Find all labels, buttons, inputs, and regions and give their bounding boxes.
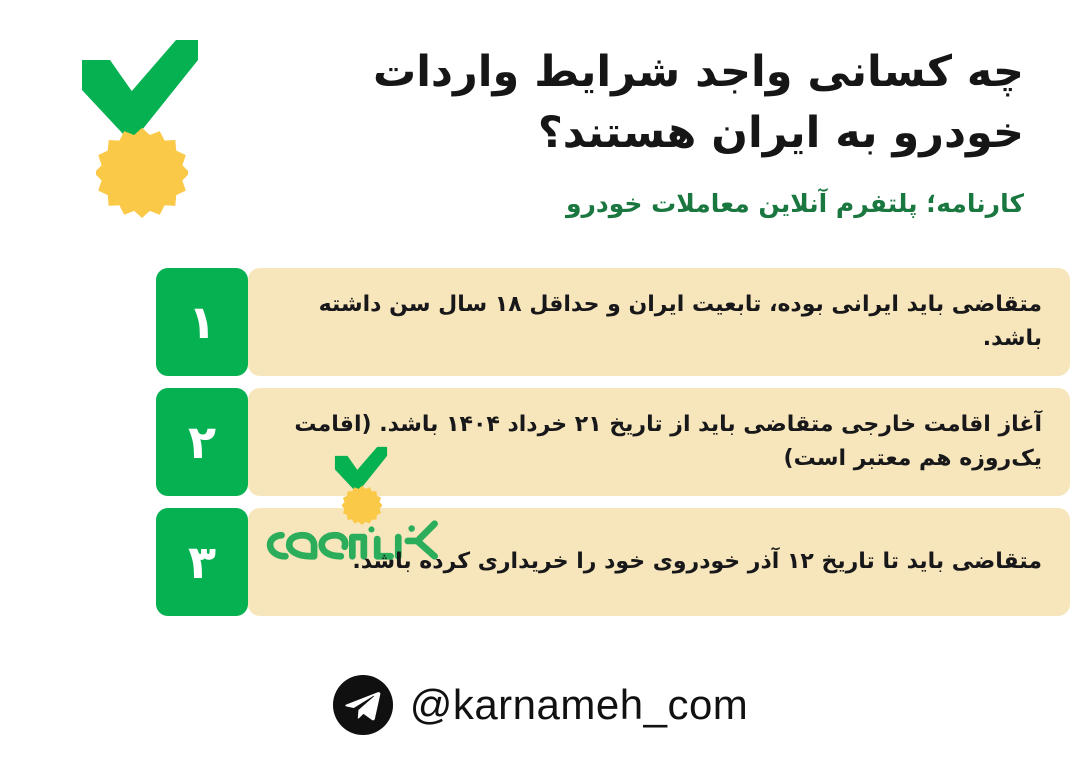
yellow-seal-icon <box>96 126 188 218</box>
list-item: ۲ آغاز اقامت خارجی متقاضی باید از تاریخ … <box>156 388 1080 496</box>
item-number-badge: ۲ <box>156 388 248 496</box>
item-panel: آغاز اقامت خارجی متقاضی باید از تاریخ ۲۱… <box>248 388 1070 496</box>
footer: @karnameh_com <box>0 655 1080 755</box>
green-check-icon <box>80 38 200 138</box>
conditions-list: ۱ متقاضی باید ایرانی بوده، تابعیت ایران … <box>0 268 1080 628</box>
item-number-badge: ۱ <box>156 268 248 376</box>
page-title-line-2: خودرو به ایران هستند؟ <box>538 108 1024 158</box>
item-text: متقاضی باید تا تاریخ ۱۲ آذر خودروی خود ر… <box>272 545 1042 579</box>
telegram-handle[interactable]: @karnameh_com <box>410 684 749 726</box>
item-text: متقاضی باید ایرانی بوده، تابعیت ایران و … <box>272 288 1042 356</box>
telegram-icon[interactable] <box>332 674 394 736</box>
header: چه کسانی واجد شرایط واردات خودرو به ایرا… <box>0 0 1080 262</box>
list-item: ۳ متقاضی باید تا تاریخ ۱۲ آذر خودروی خود… <box>156 508 1080 616</box>
page-title: چه کسانی واجد شرایط واردات خودرو به ایرا… <box>234 42 1024 164</box>
brand-check-seal-icon <box>72 38 208 204</box>
item-number-badge: ۳ <box>156 508 248 616</box>
item-text: آغاز اقامت خارجی متقاضی باید از تاریخ ۲۱… <box>272 408 1042 476</box>
item-panel: متقاضی باید تا تاریخ ۱۲ آذر خودروی خود ر… <box>248 508 1070 616</box>
headline-block: چه کسانی واجد شرایط واردات خودرو به ایرا… <box>234 42 1024 221</box>
infographic-poster: چه کسانی واجد شرایط واردات خودرو به ایرا… <box>0 0 1080 772</box>
page-subtitle: کارنامه؛ پلتفرم آنلاین معاملات خودرو <box>234 186 1024 221</box>
list-item: ۱ متقاضی باید ایرانی بوده، تابعیت ایران … <box>156 268 1080 376</box>
page-title-line-1: چه کسانی واجد شرایط واردات <box>373 47 1024 97</box>
item-panel: متقاضی باید ایرانی بوده، تابعیت ایران و … <box>248 268 1070 376</box>
